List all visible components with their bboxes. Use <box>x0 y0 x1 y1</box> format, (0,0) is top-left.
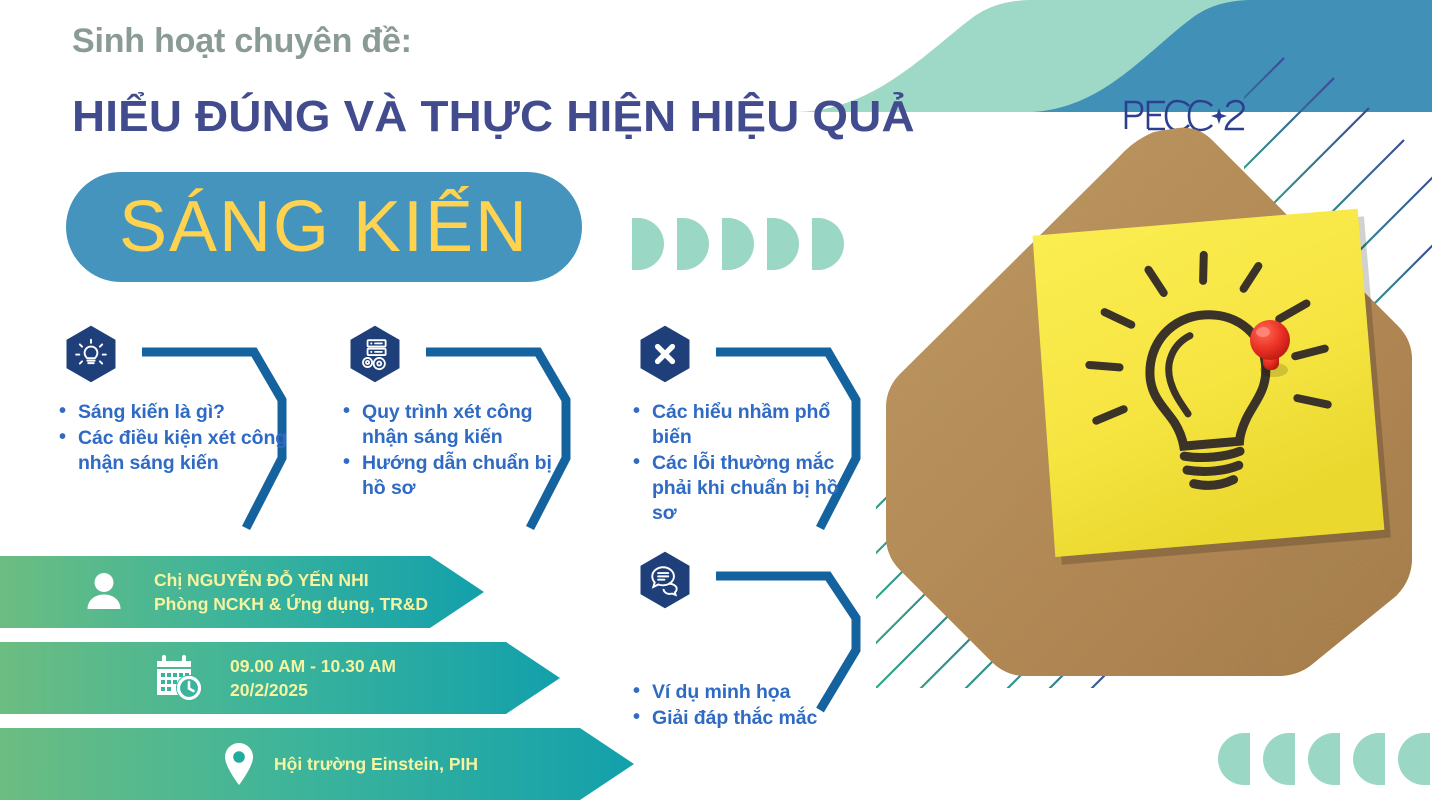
x-mark-icon <box>636 322 694 386</box>
datetime-bar: 09.00 AM - 10.30 AM 20/2/2025 <box>0 642 560 714</box>
list-item: Các điều kiện xét công nhận sáng kiến <box>56 426 288 476</box>
topic-column-1: Sáng kiến là gì? Các điều kiện xét công … <box>38 322 288 477</box>
half-circle-icon <box>767 218 799 270</box>
list-item: Sáng kiến là gì? <box>56 400 288 425</box>
half-circle-icon <box>632 218 664 270</box>
event-venue: Hội trường Einstein, PIH <box>274 752 478 776</box>
half-circle-icon <box>1263 733 1295 785</box>
half-circle-icon <box>722 218 754 270</box>
chat-bubbles-icon <box>636 548 694 612</box>
list-item: Quy trình xét công nhận sáng kiến <box>340 400 572 450</box>
list-item: Các hiểu nhầm phổ biến <box>630 400 862 450</box>
page-title: HIỂU ĐÚNG VÀ THỰC HIỆN HIỆU QUẢ <box>72 92 915 142</box>
calendar-clock-icon <box>152 653 208 703</box>
process-gears-icon <box>346 322 404 386</box>
speaker-bar: Chị NGUYỄN ĐỖ YẾN NHI Phòng NCKH & Ứng d… <box>0 556 484 628</box>
half-circle-icon <box>677 218 709 270</box>
topic-badge-label: SÁNG KIẾN <box>119 191 529 263</box>
person-icon <box>78 569 130 615</box>
lightbulb-icon <box>62 322 120 386</box>
page-kicker: Sinh hoạt chuyên đề: <box>72 22 412 61</box>
location-text: Hội trường Einstein, PIH <box>274 752 478 776</box>
topic-column-4: Ví dụ minh họa Giải đáp thắc mắc <box>612 548 862 732</box>
location-pin-icon <box>222 742 256 786</box>
speaker-text: Chị NGUYỄN ĐỖ YẾN NHI Phòng NCKH & Ứng d… <box>154 568 428 616</box>
half-circle-icon <box>1353 733 1385 785</box>
topic-bullet-list-4: Ví dụ minh họa Giải đáp thắc mắc <box>630 680 862 731</box>
poster-canvas: Sinh hoạt chuyên đề: HIỂU ĐÚNG VÀ THỰC H… <box>0 0 1432 805</box>
topic-bullet-list-2: Quy trình xét công nhận sáng kiến Hướng … <box>340 400 572 501</box>
topic-badge: SÁNG KIẾN <box>66 172 582 282</box>
decor-dots-top <box>632 218 844 270</box>
topic-bullet-list-3: Các hiểu nhầm phổ biến Các lỗi thường mắ… <box>630 400 862 526</box>
cork-board-photo <box>878 118 1432 678</box>
list-item: Giải đáp thắc mắc <box>630 706 862 731</box>
location-bar: Hội trường Einstein, PIH <box>0 728 634 800</box>
datetime-text: 09.00 AM - 10.30 AM 20/2/2025 <box>230 654 396 702</box>
topic-column-3: Các hiểu nhầm phổ biến Các lỗi thường mắ… <box>612 322 862 527</box>
list-item: Các lỗi thường mắc phải khi chuẩn bị hồ … <box>630 451 862 526</box>
speaker-dept: Phòng NCKH & Ứng dụng, TR&D <box>154 592 428 616</box>
event-time: 09.00 AM - 10.30 AM <box>230 654 396 678</box>
half-circle-icon <box>1218 733 1250 785</box>
half-circle-icon <box>1398 733 1430 785</box>
list-item: Ví dụ minh họa <box>630 680 862 705</box>
topic-column-2: Quy trình xét công nhận sáng kiến Hướng … <box>322 322 572 502</box>
topic-bullet-list-1: Sáng kiến là gì? Các điều kiện xét công … <box>56 400 288 476</box>
half-circle-icon <box>1308 733 1340 785</box>
list-item: Hướng dẫn chuẩn bị hồ sơ <box>340 451 572 501</box>
half-circle-icon <box>812 218 844 270</box>
speaker-name: Chị NGUYỄN ĐỖ YẾN NHI <box>154 568 428 592</box>
event-date: 20/2/2025 <box>230 678 396 702</box>
decor-dots-bottom <box>1218 733 1430 785</box>
